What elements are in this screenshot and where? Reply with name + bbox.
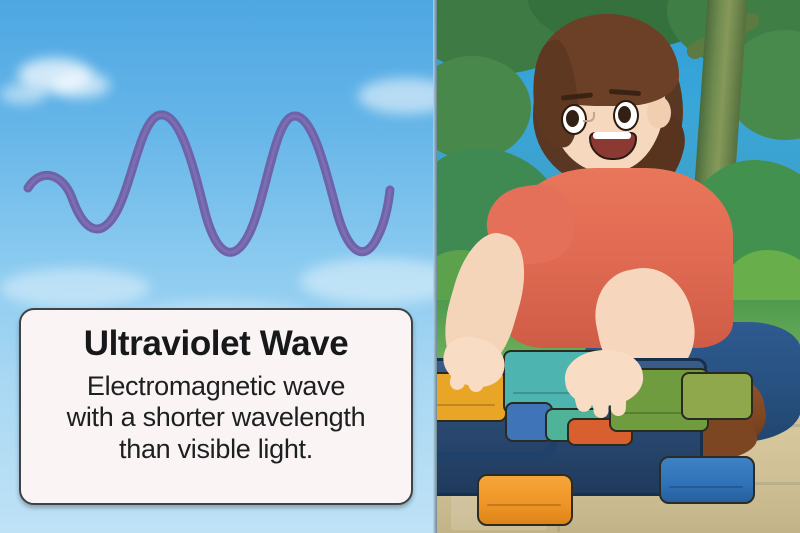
girl-finger <box>592 391 610 418</box>
folded-cloth-olive <box>681 372 753 420</box>
page-title: Ultraviolet Wave <box>84 326 349 363</box>
card-description-line: than visible light. <box>67 434 366 466</box>
ground-cloth-blue <box>659 456 755 504</box>
card-description-line: Electromagnetic wave <box>67 371 366 403</box>
girl-pupil <box>618 106 631 123</box>
card-description-line: with a shorter wavelength <box>67 402 366 434</box>
girl-finger <box>611 392 627 417</box>
info-card: Ultraviolet Wave Electromagnetic wave wi… <box>19 308 413 505</box>
ground-cloth-orange <box>477 474 573 526</box>
girl-pupil <box>566 110 579 127</box>
illustration-scene <box>437 0 800 533</box>
girl-teeth <box>593 132 631 139</box>
card-description: Electromagnetic wave with a shorter wave… <box>67 371 366 466</box>
illustration-root: Ultraviolet Wave Electromagnetic wave wi… <box>0 0 800 533</box>
